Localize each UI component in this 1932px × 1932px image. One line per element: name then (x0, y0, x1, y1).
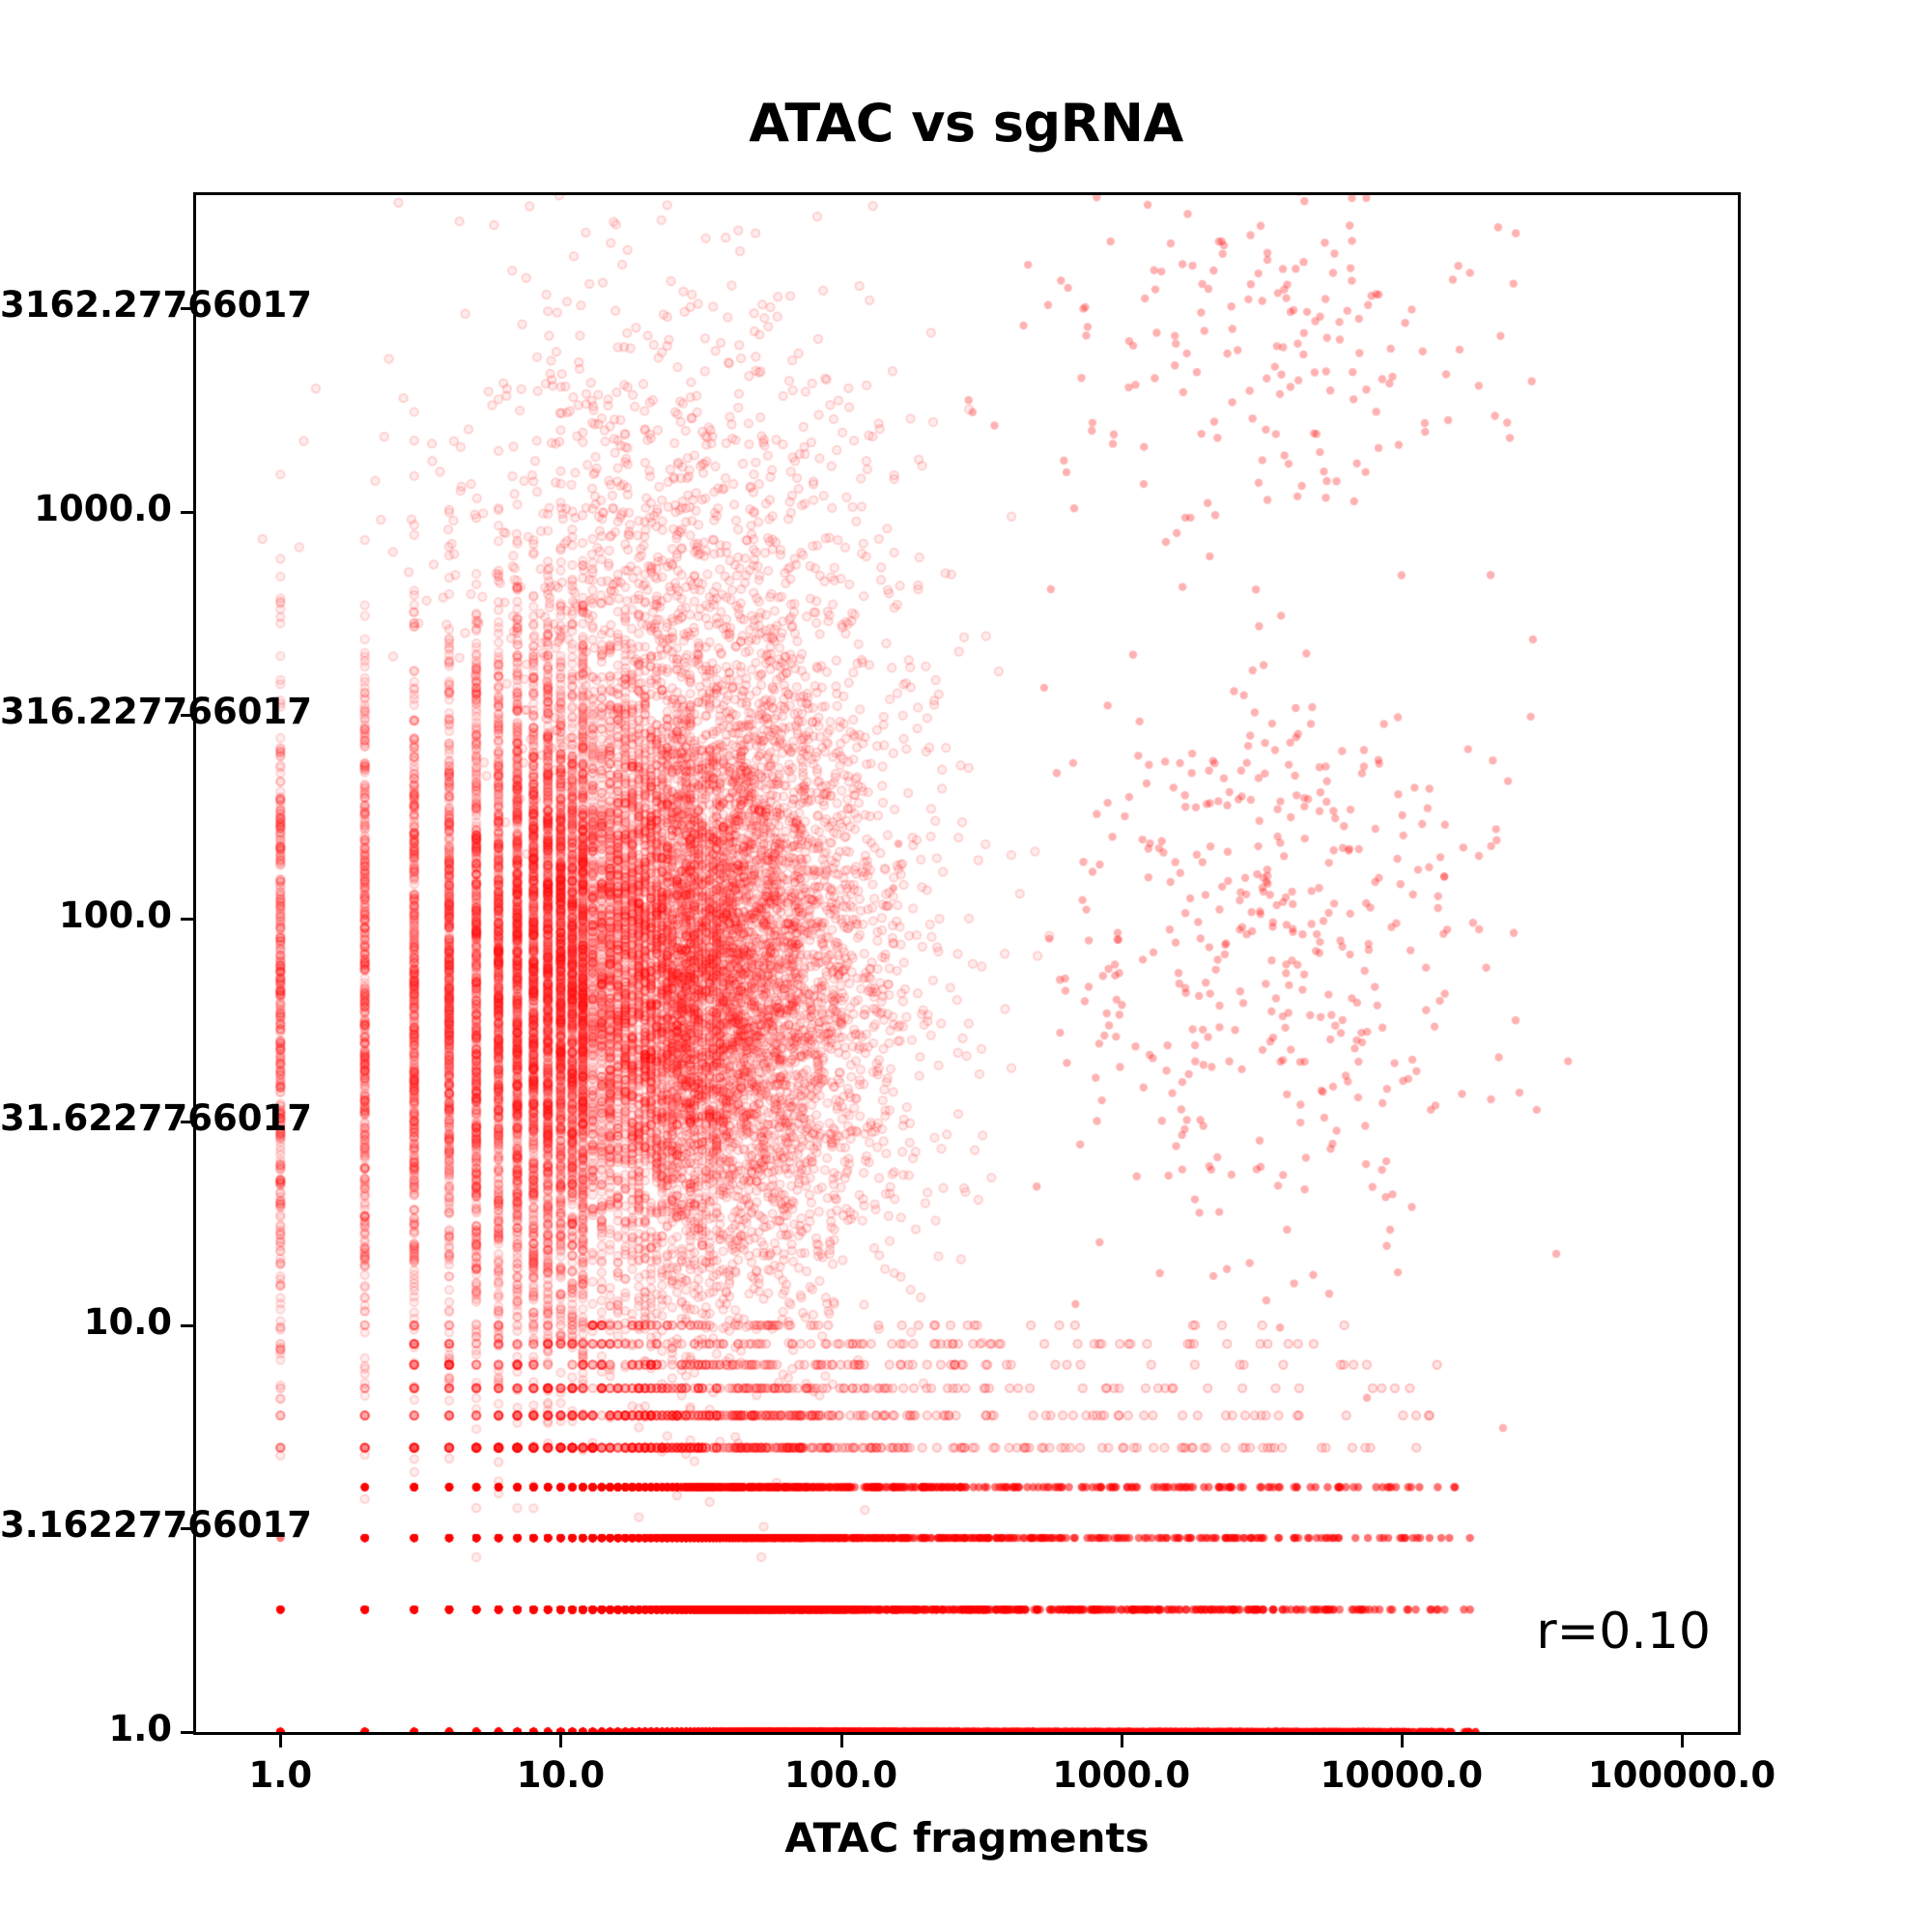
x-axis-tick-label: 1.0 (249, 1754, 313, 1796)
x-axis-tick-mark (559, 1735, 562, 1747)
y-axis-tick-label: 3.16227766017 (0, 1504, 172, 1546)
x-axis-tick-mark (1401, 1735, 1404, 1747)
x-axis-tick-mark (1681, 1735, 1684, 1747)
y-axis-tick-mark (181, 1324, 193, 1327)
figure-canvas: ATAC vs sgRNA r=0.10 3162.277660171000.0… (0, 0, 1932, 1932)
x-axis-tick-label: 10000.0 (1321, 1754, 1484, 1796)
y-axis-tick-mark (181, 511, 193, 514)
y-axis-tick-label: 10.0 (0, 1301, 172, 1343)
x-axis-tick-mark (1121, 1735, 1123, 1747)
y-axis-tick-mark (181, 918, 193, 921)
y-axis-tick-label: 3162.27766017 (0, 284, 172, 326)
x-axis-tick-label: 10.0 (517, 1754, 605, 1796)
x-axis-tick-mark (279, 1735, 282, 1747)
x-axis-tick-label: 100.0 (784, 1754, 897, 1796)
x-axis-tick-mark (840, 1735, 843, 1747)
x-axis-tick-label: 100000.0 (1588, 1754, 1776, 1796)
y-axis-tick-mark (181, 307, 193, 310)
y-axis-tick-mark (181, 1527, 193, 1530)
y-axis-tick-label: 316.227766017 (0, 691, 172, 732)
y-axis-tick-label: 100.0 (0, 895, 172, 936)
plot-area: r=0.10 (193, 192, 1741, 1735)
y-axis-tick-label: 31.6227766017 (0, 1097, 172, 1139)
x-axis-tick-label: 1000.0 (1052, 1754, 1190, 1796)
y-axis-tick-mark (181, 714, 193, 717)
correlation-annotation: r=0.10 (1536, 1603, 1711, 1661)
y-axis-tick-label: 1.0 (0, 1708, 172, 1749)
y-axis-tick-mark (181, 1121, 193, 1123)
y-axis-tick-label: 1000.0 (0, 488, 172, 529)
page-title: ATAC vs sgRNA (0, 93, 1932, 154)
scatter-plot-canvas (196, 195, 1738, 1732)
y-axis-tick-mark (181, 1731, 193, 1734)
x-axis-label: ATAC fragments (193, 1814, 1741, 1861)
